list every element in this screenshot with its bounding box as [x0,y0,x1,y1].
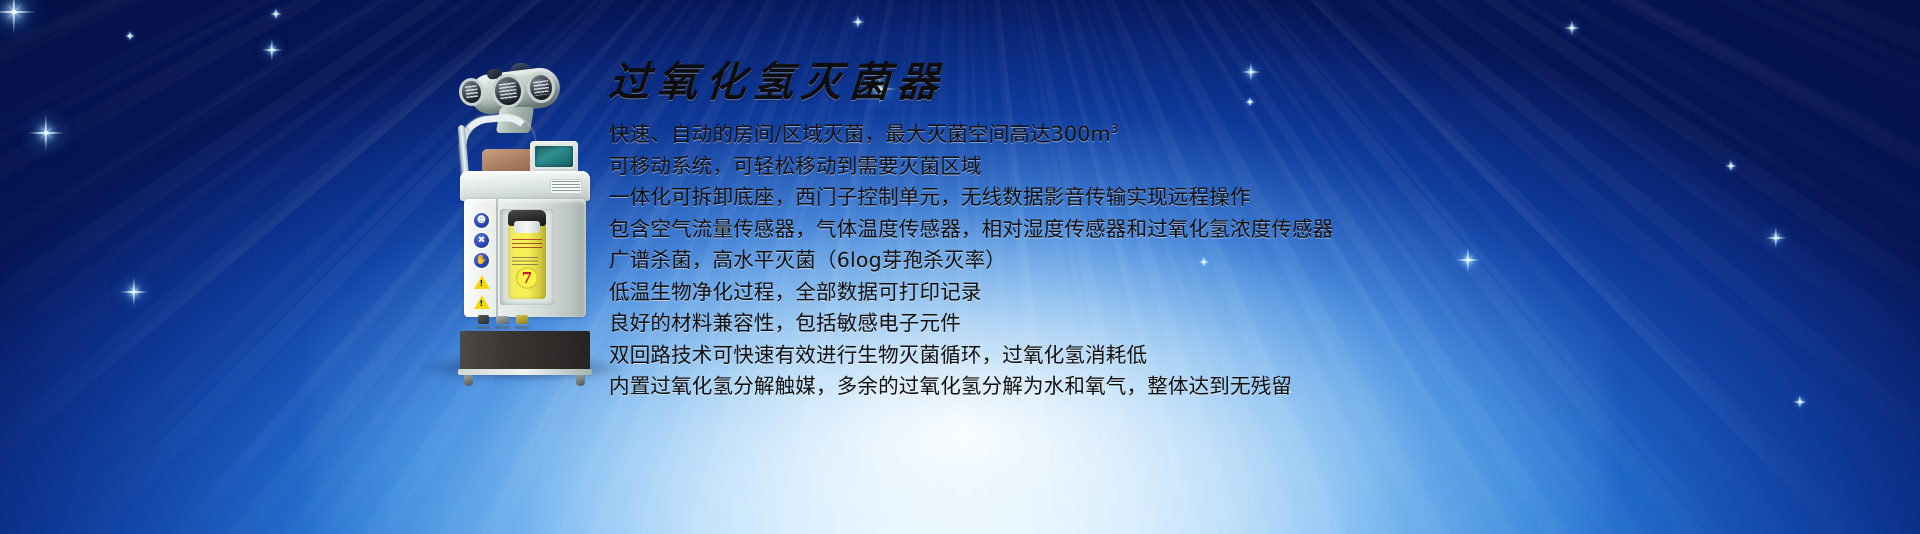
safety-sticker-mandatory-2: ✋ [474,253,489,268]
safety-sticker-warning-2: ! [474,295,490,309]
aux-connector [516,315,528,324]
product-image-sterilizer: 7 ☻ ✖ ✋ ! ! [438,63,606,373]
device-base-lip [458,369,592,375]
safety-sticker-warning-1: ! [474,275,490,289]
feature-text: 内置过氧化氢分解触媒，多余的过氧化氢分解为水和氧气，整体达到无残留 [609,374,1292,398]
caster-wheel-right [576,375,585,386]
feature-text: 快速、自动的房间/区域灭菌，最大灭菌空间高达300m [609,122,1111,146]
feature-text: 双回路技术可快速有效进行生物灭菌循环，过氧化氢消耗低 [609,343,1147,367]
mandatory-mask-icon: ☻ [477,216,486,225]
feature-line: 包含空气流量传感器，气体温度传感器，相对湿度传感器和过氧化氢浓度传感器 [609,214,1849,246]
connector-label-2 [495,326,510,329]
safety-sticker-prohibition: ✖ [474,233,489,248]
feature-line: 广谱杀菌，高水平灭菌（6log芽孢杀灭率） [609,245,1849,277]
power-connector [478,315,489,324]
feature-text: 低温生物净化过程，全部数据可打印记录 [609,280,982,304]
bottle-label-subtext [512,257,538,265]
feature-text: 良好的材料兼容性，包括敏感电子元件 [609,311,961,335]
feature-text: 广谱杀菌，高水平灭菌（6log芽孢杀灭率） [609,248,1006,272]
caster-wheel-left [464,375,473,386]
feature-line: 可移动系统，可轻松移动到需要灭菌区域 [609,151,1849,183]
control-display-screen [535,146,573,167]
feature-list: 快速、自动的房间/区域灭菌，最大灭菌空间高达300m3可移动系统，可轻松移动到需… [609,119,1849,403]
feature-superscript: 3 [1111,122,1119,136]
safety-sticker-mandatory-1: ☻ [474,213,489,228]
prohibition-icon: ✖ [478,236,486,245]
bottle-number-badge: 7 [516,267,538,289]
banner-content: 过氧化氢灭菌器 快速、自动的房间/区域灭菌，最大灭菌空间高达300m3可移动系统… [609,62,1849,403]
warning-exclamation-icon: ! [480,300,484,308]
feature-line: 快速、自动的房间/区域灭菌，最大灭菌空间高达300m3 [609,119,1849,151]
bottle-neck [514,221,540,233]
feature-text: 一体化可拆卸底座，西门子控制单元，无线数据影音传输实现远程操作 [609,185,1251,209]
feature-line: 低温生物净化过程，全部数据可打印记录 [609,277,1849,309]
hand-protection-icon: ✋ [476,256,487,265]
feature-text: 可移动系统，可轻松移动到需要灭菌区域 [609,154,982,178]
data-connector [496,316,509,324]
warning-exclamation-icon: ! [480,280,484,288]
connector-label-3 [515,326,529,329]
connector-label-1 [477,326,490,329]
feature-line: 双回路技术可快速有效进行生物灭菌循环，过氧化氢消耗低 [609,340,1849,372]
feature-line: 一体化可拆卸底座，西门子控制单元，无线数据影音传输实现远程操作 [609,182,1849,214]
bottle-label-text [512,239,542,251]
feature-line: 内置过氧化氢分解触媒，多余的过氧化氢分解为水和氧气，整体达到无残留 [609,371,1849,403]
device-base [460,331,590,371]
feature-line: 良好的材料兼容性，包括敏感电子元件 [609,308,1849,340]
product-banner: 7 ☻ ✖ ✋ ! ! 过氧化氢灭菌器 快速、自动的房间/区域灭菌，最大灭菌空间… [0,0,1920,534]
page-title: 过氧化氢灭菌器 [608,62,1851,103]
cabinet-seam [496,199,498,317]
device-nameplate-label [550,179,582,194]
feature-text: 包含空气流量传感器，气体温度传感器，相对湿度传感器和过氧化氢浓度传感器 [609,217,1334,241]
